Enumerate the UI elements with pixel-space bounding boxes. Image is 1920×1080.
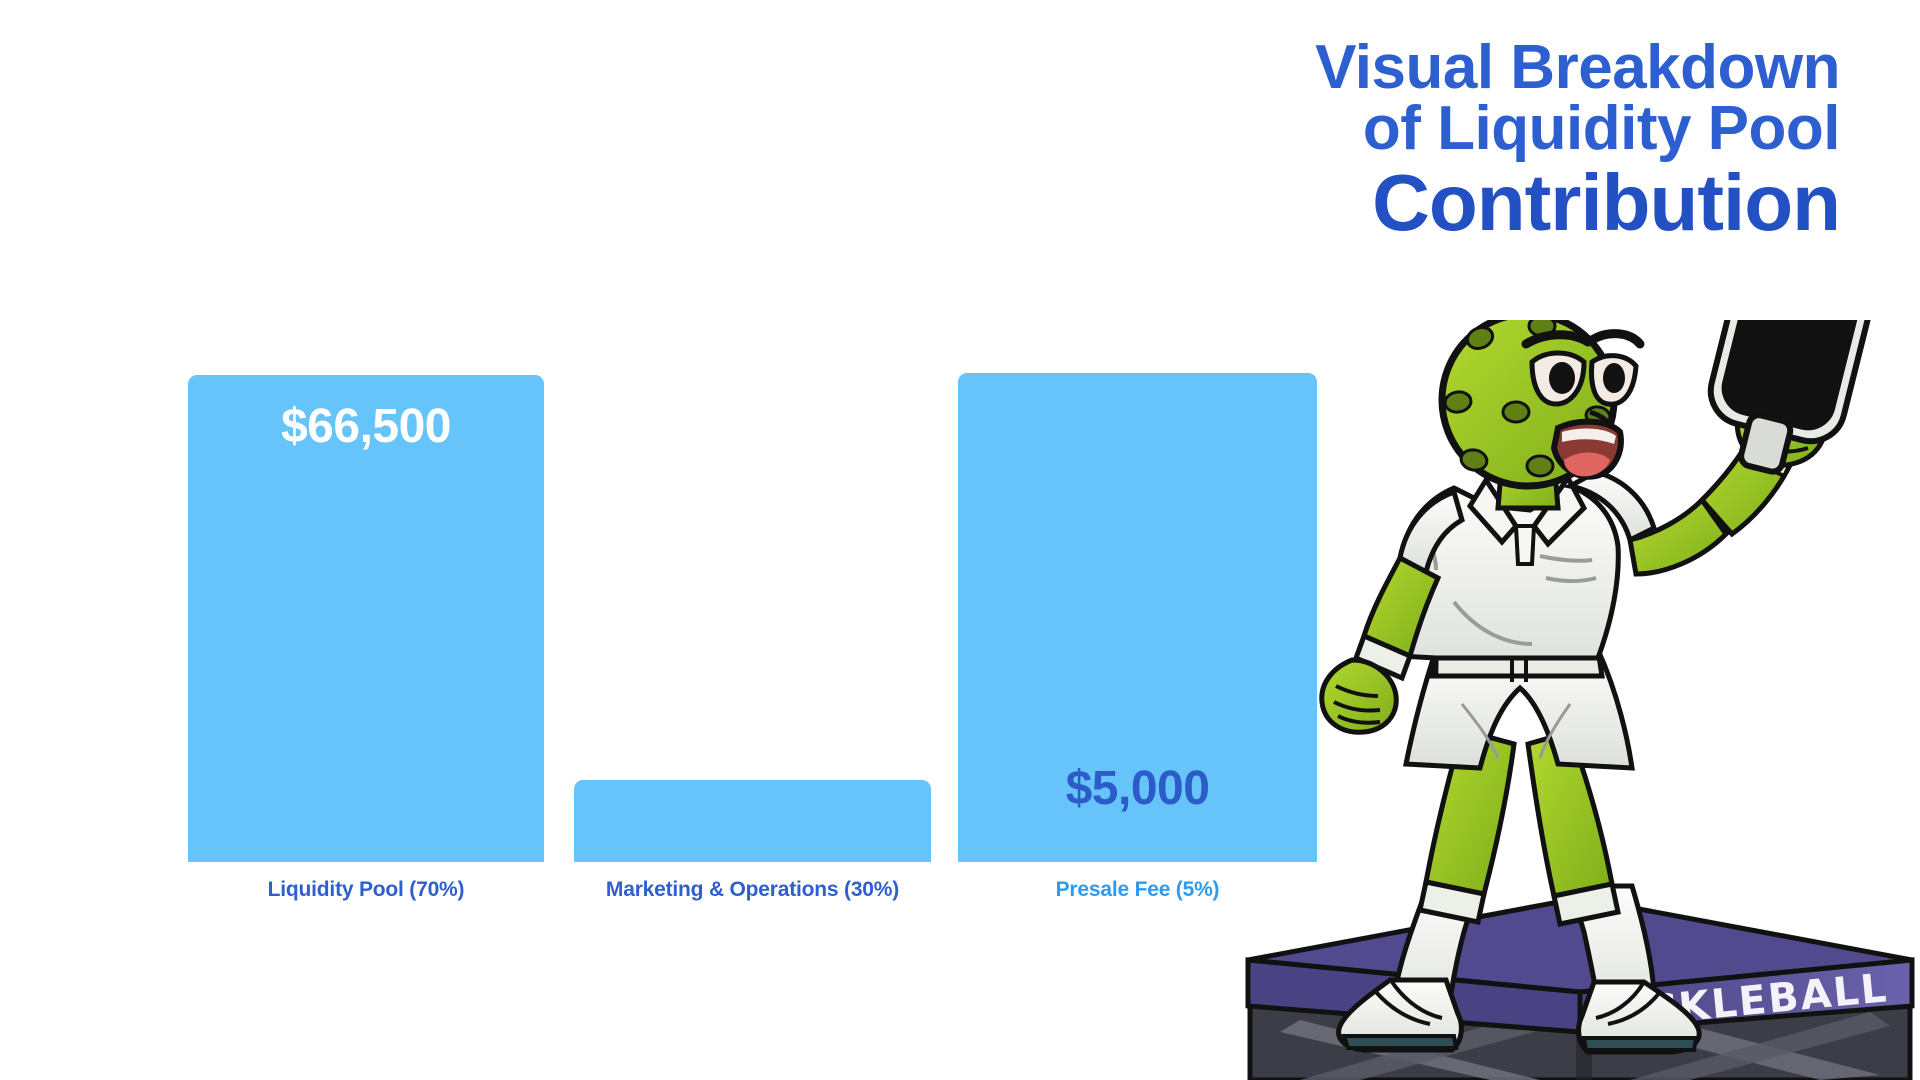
bar-marketing-operations[interactable] [574,780,931,862]
mascot-right-arm [1570,381,1826,574]
bar-label-presale-fee: Presale Fee (5%) [958,878,1317,902]
pickleball-paddle-icon [1694,320,1875,485]
bar-value-liquidity-pool: $66,500 [188,399,544,454]
podium-sign-text: PICKLEBALL [1597,965,1890,1039]
bar-label-marketing-operations: Marketing & Operations (30%) [574,878,931,902]
bar-label-liquidity-pool: Liquidity Pool (70%) [188,878,544,902]
mascot-right-leg [1528,732,1699,1052]
bar-presale-fee[interactable]: $5,000 [958,373,1317,862]
mascot-eyes [1526,334,1640,405]
mascot-shirt [1395,478,1618,675]
bar-chart: $66,500 Liquidity Pool (70%) Marketing &… [0,0,1400,1080]
bar-value-presale-fee: $5,000 [958,761,1317,816]
mascot-head-pickleball [1442,320,1640,508]
infographic-canvas: Visual Breakdown of Liquidity Pool Contr… [0,0,1920,1080]
bar-liquidity-pool[interactable]: $66,500 [188,375,544,862]
ball-holes [1444,320,1612,476]
mascot-shorts [1406,650,1632,768]
